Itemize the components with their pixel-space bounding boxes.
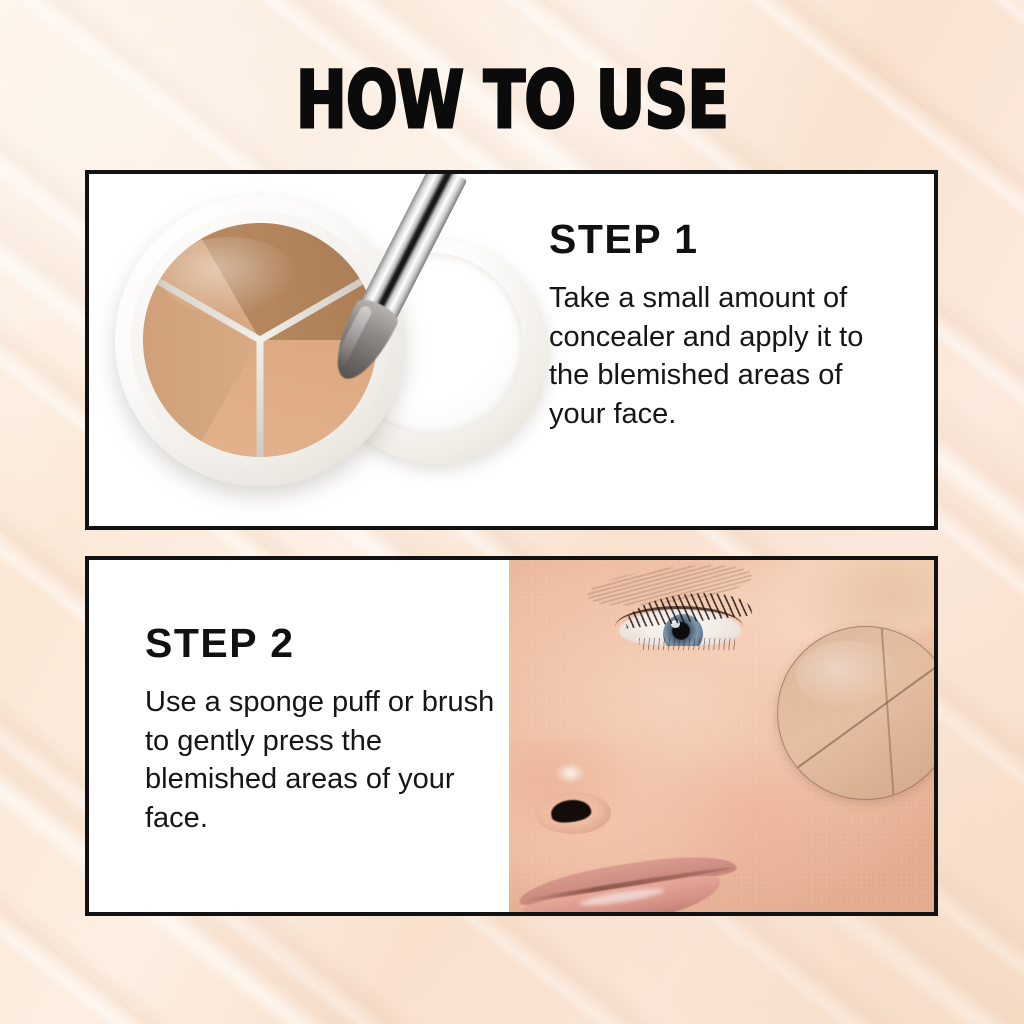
eye <box>613 604 745 654</box>
step-2-body: Use a sponge puff or brush to gently pre… <box>145 683 505 837</box>
step-1-text-block: STEP 1 Take a small amount of concealer … <box>549 216 879 433</box>
page-title: HOW TO USE <box>113 62 912 140</box>
step-1-heading: STEP 1 <box>549 216 879 263</box>
nose <box>509 740 653 870</box>
step-1-product-image <box>89 174 559 526</box>
step-2-face-image <box>509 560 934 912</box>
step-1-card: STEP 1 Take a small amount of concealer … <box>85 170 938 530</box>
step-2-text-block: STEP 2 Use a sponge puff or brush to gen… <box>145 620 505 837</box>
how-to-use-poster: HOW TO USE <box>0 0 1024 1024</box>
step-1-body: Take a small amount of concealer and app… <box>549 279 879 433</box>
step-2-heading: STEP 2 <box>145 620 505 667</box>
nose-highlight <box>555 762 585 784</box>
step-2-card: STEP 2 Use a sponge puff or brush to gen… <box>85 556 938 916</box>
pan-divider-a <box>257 340 264 457</box>
lower-lashes <box>639 638 735 650</box>
lips <box>517 860 757 912</box>
